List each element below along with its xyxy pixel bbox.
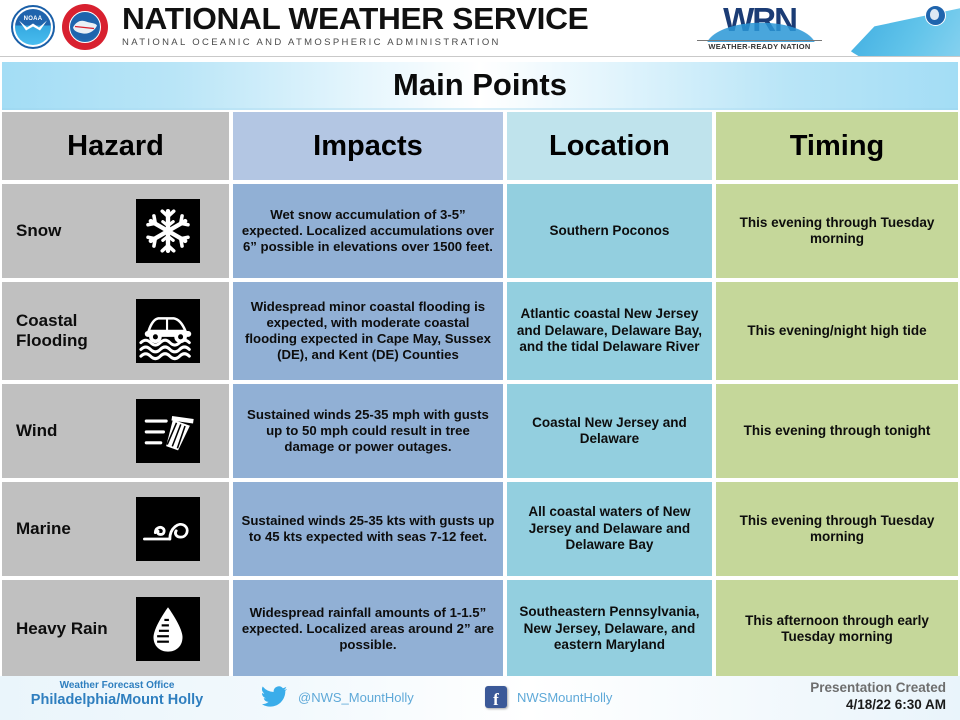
blowing-trash-can-glyph [139, 402, 197, 460]
hazard-name: Coastal Flooding [16, 311, 128, 350]
nws-header-banner: NOAA NATIONAL WEATHER SERVICE NATIONAL O… [0, 0, 960, 57]
cell-impacts: Widespread rainfall amounts of 1-1.5” ex… [233, 580, 503, 678]
wrn-swoosh-icon [697, 16, 822, 42]
timing-text: This afternoon through early Tuesday mor… [724, 613, 950, 646]
timing-text: This evening/night high tide [747, 323, 926, 339]
table-row: Snow [2, 184, 958, 278]
cell-impacts: Sustained winds 25-35 kts with gusts up … [233, 482, 503, 576]
header-divider [0, 56, 960, 57]
twitter-handle: @NWS_MountHolly [298, 690, 414, 705]
doc-seal-icon [925, 5, 946, 26]
wrn-caption: WEATHER-READY NATION [697, 40, 822, 51]
table-row: Heavy Rain Widespread ra [2, 580, 958, 678]
column-header-timing: Timing [716, 112, 958, 180]
hazard-name: Snow [16, 221, 128, 241]
column-header-timing-label: Timing [790, 130, 885, 163]
column-header-hazard-label: Hazard [67, 130, 164, 163]
blowing-trash-can-icon [136, 399, 200, 463]
impacts-text: Sustained winds 25-35 kts with gusts up … [241, 513, 495, 545]
column-header-location-label: Location [549, 130, 670, 163]
snowflake-icon [136, 199, 200, 263]
table-row: Wind [2, 384, 958, 478]
location-text: Atlantic coastal New Jersey and Delaware… [515, 306, 704, 355]
hazard-name: Wind [16, 421, 128, 441]
noaa-logo-text: NOAA [24, 16, 43, 22]
created-label: Presentation Created [810, 680, 946, 695]
table-header-row: Hazard Impacts Location Timing [2, 112, 958, 180]
wind-swirl-icon [136, 497, 200, 561]
title-underline [2, 108, 958, 110]
cell-hazard: Heavy Rain [2, 580, 229, 678]
cell-hazard: Snow [2, 184, 229, 278]
impacts-text: Widespread minor coastal flooding is exp… [241, 299, 495, 363]
agency-title: NATIONAL WEATHER SERVICE [122, 3, 588, 36]
location-text: Southeastern Pennsylvania, New Jersey, D… [515, 604, 704, 653]
cell-impacts: Sustained winds 25-35 mph with gusts up … [233, 384, 503, 478]
snowflake-glyph [143, 206, 193, 256]
raindrop-gauge-icon [136, 597, 200, 661]
impacts-text: Wet snow accumulation of 3-5” expected. … [241, 207, 495, 255]
cell-location: Atlantic coastal New Jersey and Delaware… [507, 282, 712, 380]
slide-footer: Weather Forecast Office Philadelphia/Mou… [0, 676, 960, 720]
impacts-text: Widespread rainfall amounts of 1-1.5” ex… [241, 605, 495, 653]
timing-text: This evening through Tuesday morning [724, 513, 950, 546]
office-name: Philadelphia/Mount Holly [22, 692, 212, 708]
location-text: All coastal waters of New Jersey and Del… [515, 504, 704, 553]
cell-location: Coastal New Jersey and Delaware [507, 384, 712, 478]
table-row: Coastal Flooding [2, 282, 958, 380]
cell-location: All coastal waters of New Jersey and Del… [507, 482, 712, 576]
presentation-created: Presentation Created 4/18/22 6:30 AM [810, 680, 946, 712]
cell-hazard: Wind [2, 384, 229, 478]
cell-impacts: Widespread minor coastal flooding is exp… [233, 282, 503, 380]
location-text: Coastal New Jersey and Delaware [515, 415, 704, 448]
cell-timing: This evening through Tuesday morning [716, 482, 958, 576]
cell-timing: This afternoon through early Tuesday mor… [716, 580, 958, 678]
header-logos: NOAA [10, 4, 108, 50]
created-timestamp: 4/18/22 6:30 AM [810, 697, 946, 712]
agency-subtitle: NATIONAL OCEANIC AND ATMOSPHERIC ADMINIS… [122, 37, 579, 48]
cell-timing: This evening through Tuesday morning [716, 184, 958, 278]
cell-timing: This evening/night high tide [716, 282, 958, 380]
noaa-logo-icon: NOAA [10, 4, 56, 50]
timing-text: This evening through Tuesday morning [724, 215, 950, 248]
header-swoosh-graphic [830, 0, 960, 57]
page-title: Main Points [393, 67, 567, 103]
cell-hazard: Coastal Flooding [2, 282, 229, 380]
nws-map-icon [72, 19, 98, 36]
table-row: Marine Sustained winds 25-35 kts with gu… [2, 482, 958, 576]
weather-forecast-office: Weather Forecast Office Philadelphia/Mou… [22, 680, 212, 708]
hazard-name: Marine [16, 519, 128, 539]
cell-location: Southern Poconos [507, 184, 712, 278]
wind-swirl-glyph [139, 500, 197, 558]
flooded-car-icon [136, 299, 200, 363]
cell-timing: This evening through tonight [716, 384, 958, 478]
impacts-text: Sustained winds 25-35 mph with gusts up … [241, 407, 495, 455]
column-header-hazard: Hazard [2, 112, 229, 180]
hazard-name: Heavy Rain [16, 619, 128, 639]
twitter-icon [262, 686, 288, 708]
flooded-car-glyph [137, 300, 199, 362]
column-header-impacts-label: Impacts [313, 130, 423, 163]
office-label: Weather Forecast Office [22, 680, 212, 691]
header-title-block: NATIONAL WEATHER SERVICE NATIONAL OCEANI… [122, 3, 579, 48]
cell-hazard: Marine [2, 482, 229, 576]
slide-title-bar: Main Points [2, 62, 958, 108]
cell-location: Southeastern Pennsylvania, New Jersey, D… [507, 580, 712, 678]
column-header-location: Location [507, 112, 712, 180]
twitter-link[interactable]: @NWS_MountHolly [262, 686, 414, 708]
main-points-table: Hazard Impacts Location Timing Snow [2, 112, 958, 672]
slide-root: NOAA NATIONAL WEATHER SERVICE NATIONAL O… [0, 0, 960, 720]
timing-text: This evening through tonight [744, 423, 931, 439]
nws-seal-icon [62, 4, 108, 50]
facebook-icon: f [485, 686, 507, 708]
cell-impacts: Wet snow accumulation of 3-5” expected. … [233, 184, 503, 278]
column-header-impacts: Impacts [233, 112, 503, 180]
location-text: Southern Poconos [549, 223, 669, 239]
facebook-handle: NWSMountHolly [517, 690, 612, 705]
facebook-link[interactable]: f NWSMountHolly [485, 686, 612, 708]
raindrop-gauge-glyph [139, 600, 197, 658]
weather-ready-nation-logo: WRN WEATHER-READY NATION [697, 4, 822, 53]
